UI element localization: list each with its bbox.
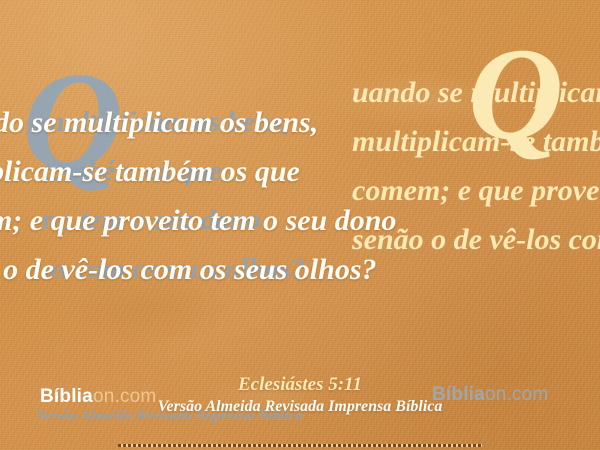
decorative-dashed-rule: [118, 444, 482, 447]
verse-image-canvas: Q multiplicam os bens, também os que no …: [0, 0, 600, 450]
bible-version-label: Versão Almeida Revisada Imprensa Bíblica: [0, 398, 600, 416]
verse-reference: Eclesiástes 5:11: [0, 374, 600, 396]
verse-text: Quando se multiplicam os bens, multiplic…: [0, 98, 584, 294]
footer: Versão Almeida Revisada Imprensa Bíblica…: [0, 360, 600, 450]
